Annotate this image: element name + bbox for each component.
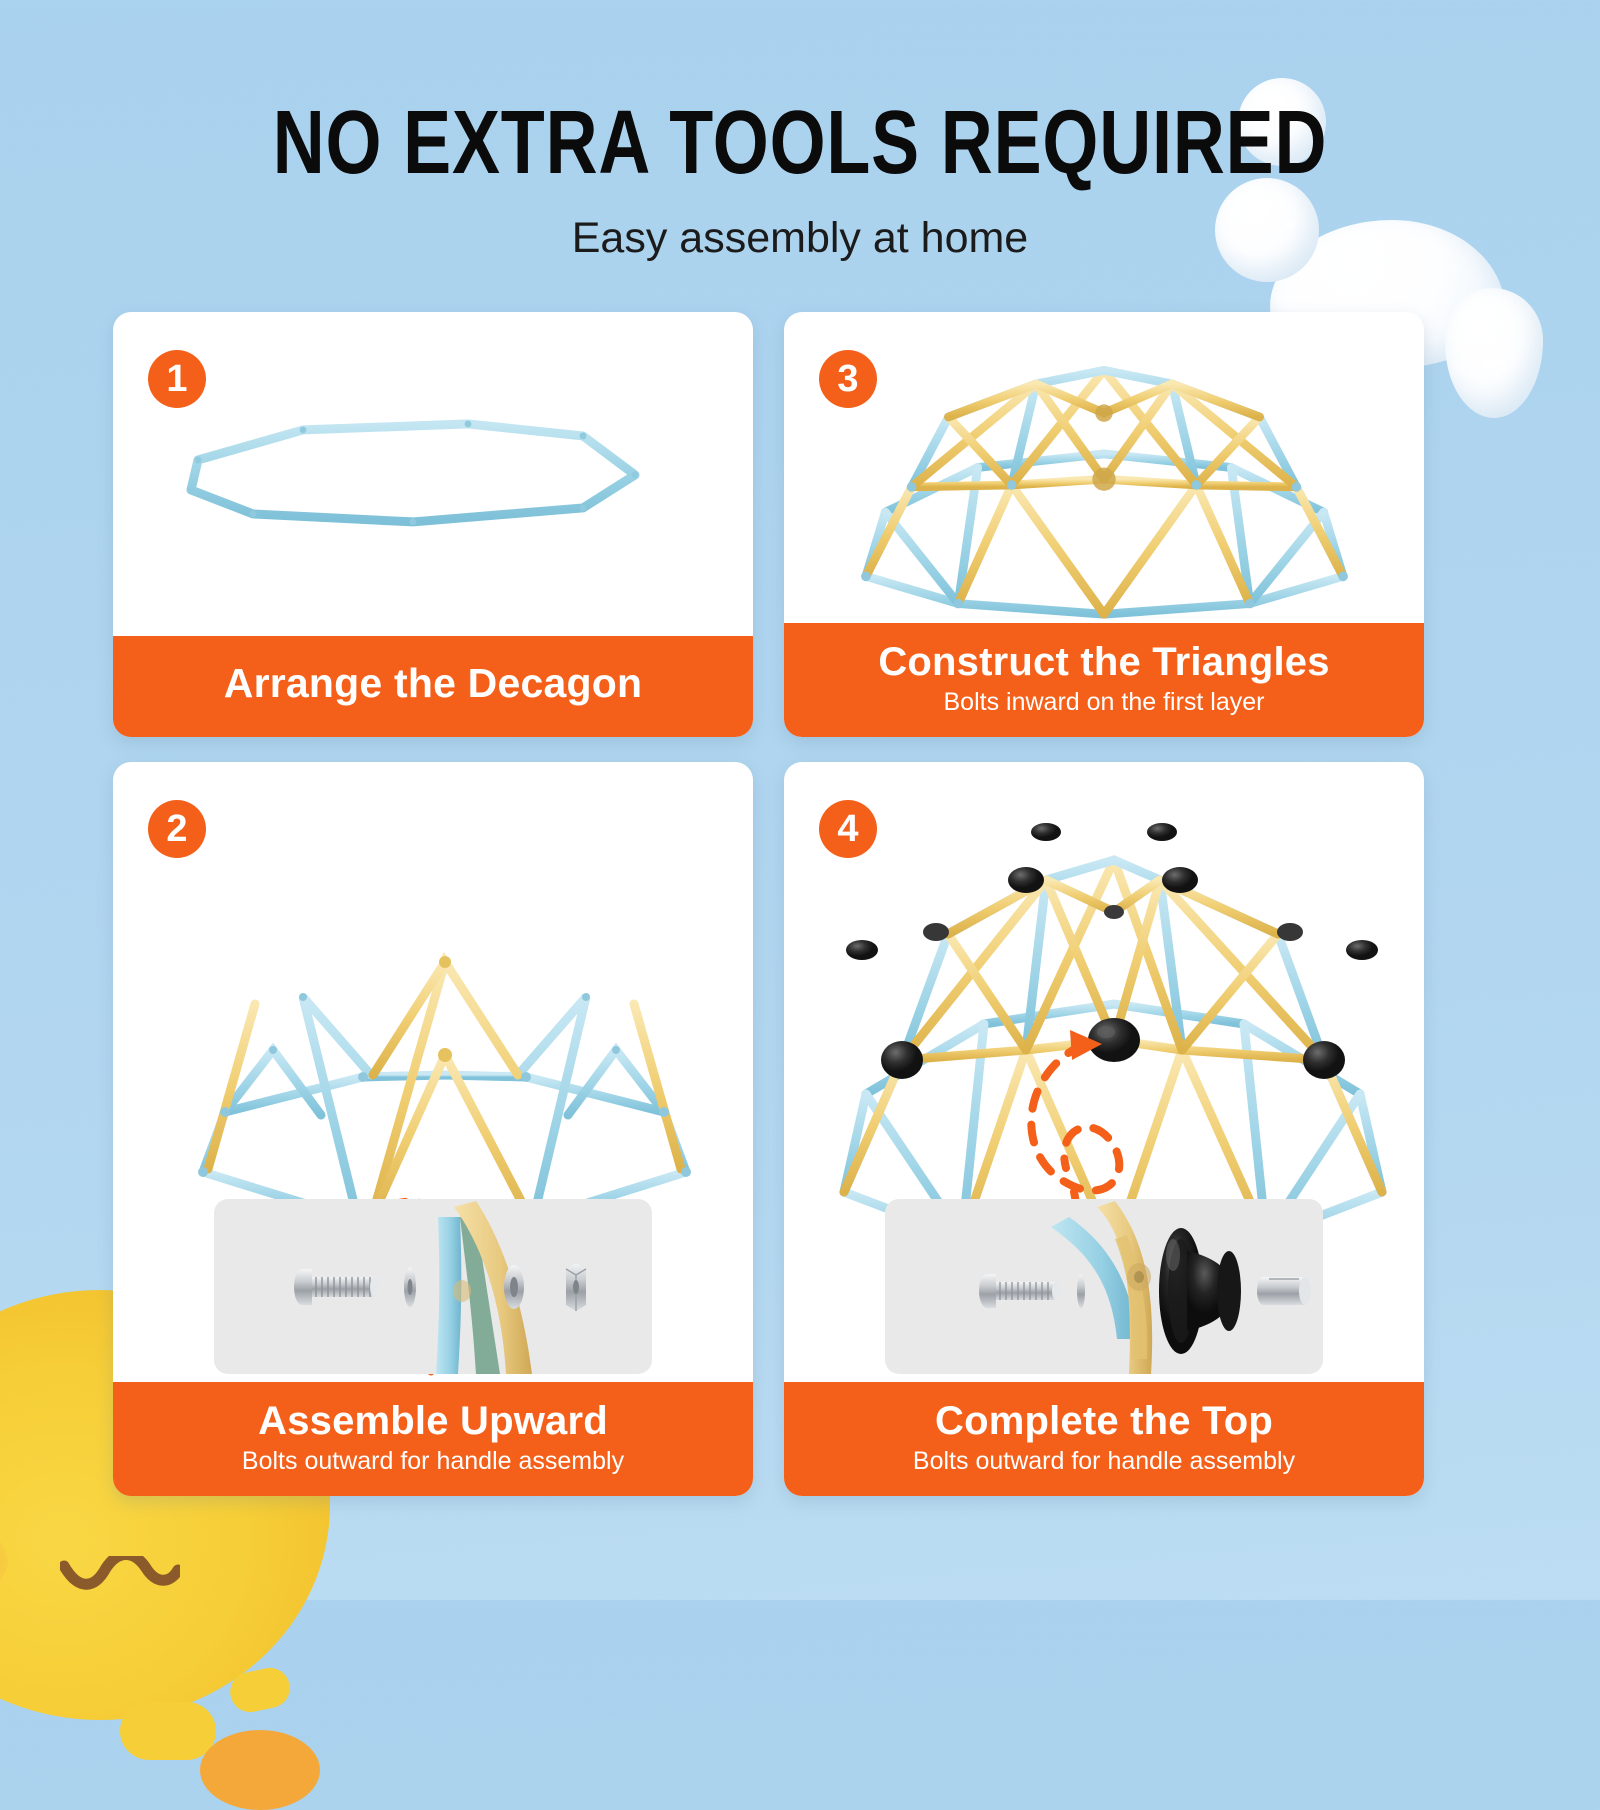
step-3-band: Construct the Triangles Bolts inward on …	[784, 623, 1424, 737]
step-4-hardware-inset	[885, 1199, 1323, 1374]
step-card-1: 1	[113, 312, 753, 737]
step-1-title: Arrange the Decagon	[123, 660, 743, 707]
page-title: NO EXTRA TOOLS REQUIRED	[160, 98, 1440, 188]
step-2-title: Assemble Upward	[123, 1398, 743, 1444]
chick-mouth-icon	[60, 1556, 180, 1590]
step-3-illustration-area: 3	[784, 312, 1424, 623]
step-4-illustration-area: 4	[784, 762, 1424, 1382]
chick-pebble	[226, 1664, 293, 1716]
chick-cheek	[0, 1522, 8, 1600]
header: NO EXTRA TOOLS REQUIRED Easy assembly at…	[0, 0, 1600, 263]
decagon-ring-illustration	[113, 312, 753, 636]
step-2-band: Assemble Upward Bolts outward for handle…	[113, 1382, 753, 1496]
step-3-subtitle: Bolts inward on the first layer	[794, 687, 1414, 717]
step-4-title: Complete the Top	[794, 1398, 1414, 1444]
step-4-band: Complete the Top Bolts outward for handl…	[784, 1382, 1424, 1496]
step-2-subtitle: Bolts outward for handle assembly	[123, 1446, 743, 1476]
steps-grid: 1	[113, 312, 1424, 1496]
step-2-illustration-area: 2	[113, 762, 753, 1382]
page-subtitle: Easy assembly at home	[0, 214, 1600, 263]
step-card-3: 3	[784, 312, 1424, 737]
step-card-2: 2	[113, 762, 753, 1496]
step-card-4: 4	[784, 762, 1424, 1496]
cloud-highlight	[1482, 358, 1505, 369]
step-4-subtitle: Bolts outward for handle assembly	[794, 1446, 1414, 1476]
chick-pebble	[47, 1310, 98, 1391]
cloud-lobe-drop	[1445, 288, 1543, 418]
chick-pebble	[120, 1702, 216, 1760]
step-1-band: Arrange the Decagon	[113, 636, 753, 737]
step-2-hardware-inset	[214, 1199, 652, 1374]
chick-pebble	[200, 1730, 320, 1810]
step-3-title: Construct the Triangles	[794, 639, 1414, 685]
geodesic-dome-illustration	[784, 312, 1424, 623]
step-1-illustration-area: 1	[113, 312, 753, 636]
